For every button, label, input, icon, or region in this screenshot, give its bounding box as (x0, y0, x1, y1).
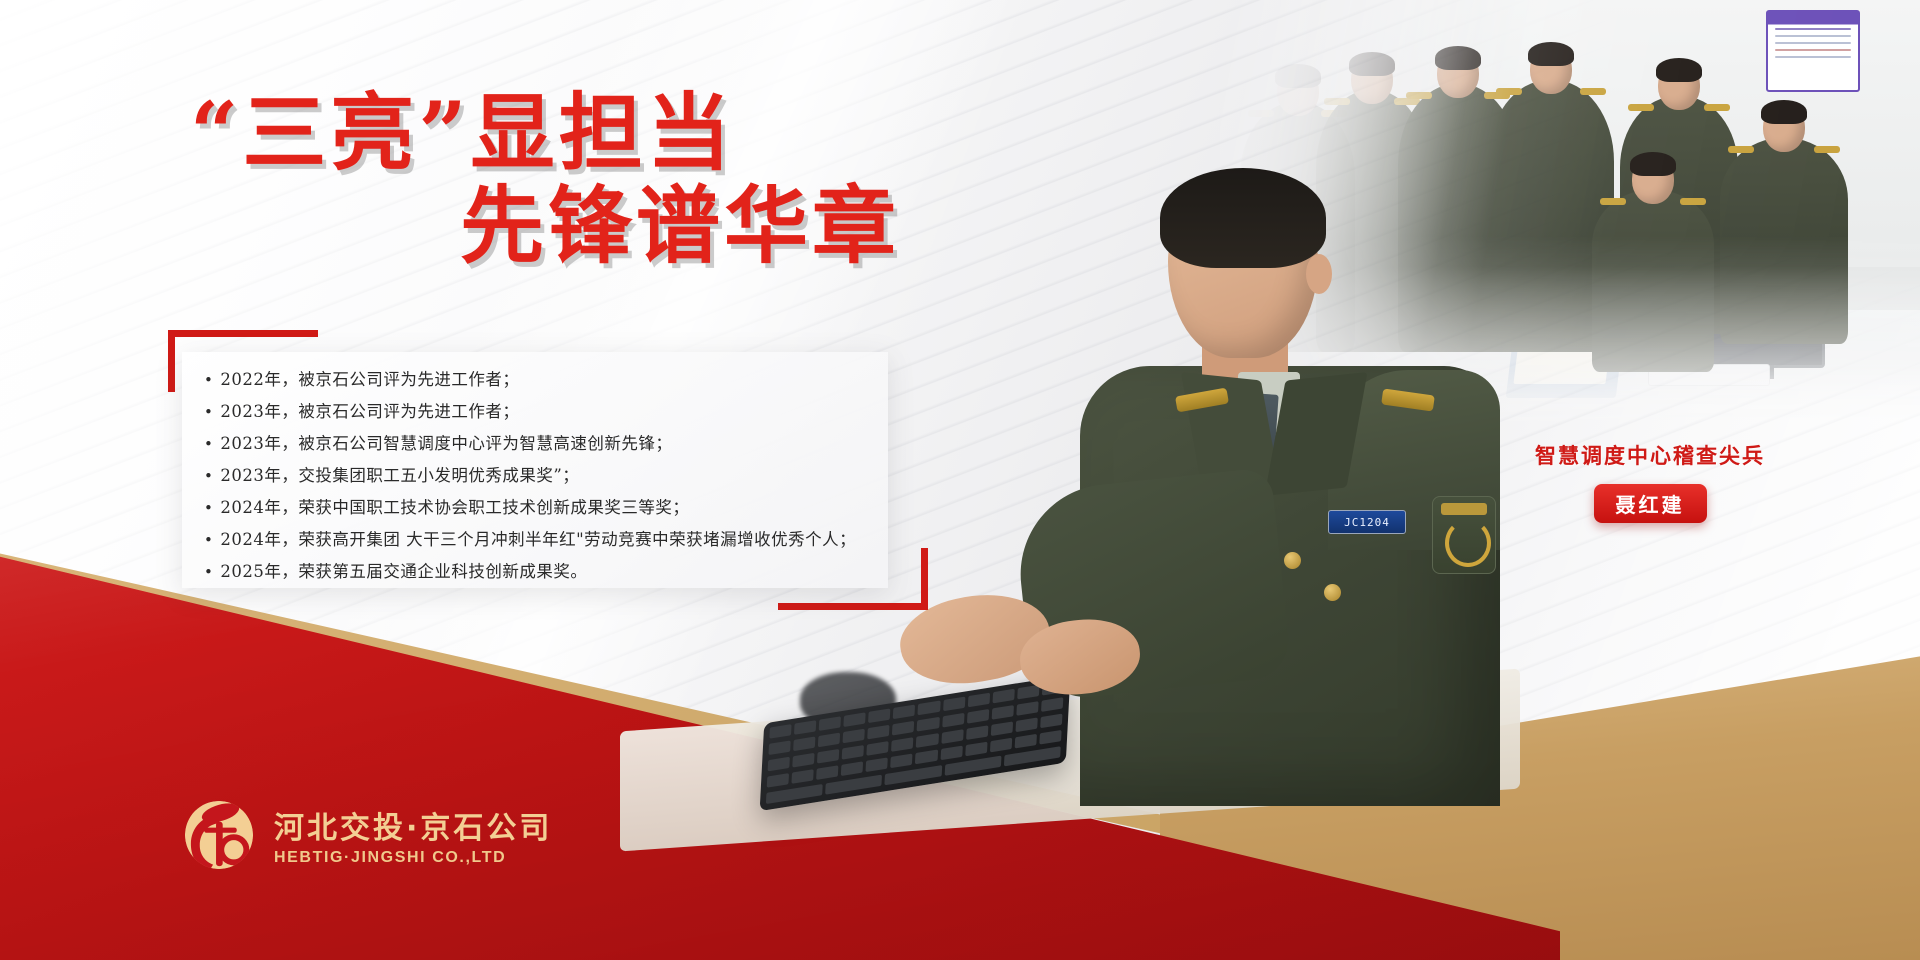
poster-title: “三亮”显担当 先锋谱华章 (190, 88, 1140, 270)
ear (1306, 254, 1332, 294)
honoree-name-badge: 聂红建 (1594, 484, 1707, 523)
badge-number-text: JC1204 (1344, 516, 1390, 529)
corner-bracket-top-left-horizontal (168, 330, 318, 337)
list-item: 2024年，荣获高开集团 大干三个月冲刺半年红"劳动竞赛中荣获堵漏增收优秀个人； (204, 532, 870, 549)
corner-bracket-top-left-vertical (168, 330, 175, 392)
list-item: 2023年，被京石公司智慧调度中心评为智慧高速创新先锋； (204, 436, 870, 453)
uniform-button-icon (1284, 552, 1301, 569)
company-logo: 河北交投·京石公司 HEBTIG·JINGSHI CO.,LTD (182, 798, 552, 872)
company-logo-text: 河北交投·京石公司 HEBTIG·JINGSHI CO.,LTD (274, 803, 552, 867)
shoulder-emblem-icon (1432, 496, 1496, 574)
list-item: 2024年，荣获中国职工技术协会职工技术创新成果奖三等奖； (204, 500, 870, 517)
company-name-en: HEBTIG·JINGSHI CO.,LTD (274, 849, 552, 867)
name-badge: JC1204 (1328, 510, 1406, 534)
uniform-button-icon (1324, 584, 1341, 601)
corner-bracket-bottom-right-horizontal (778, 603, 928, 610)
company-logo-icon (182, 798, 256, 872)
list-item: 2025年，荣获第五届交通企业科技创新成果奖。 (204, 564, 870, 581)
honoree-nametag: 智慧调度中心稽查尖兵 聂红建 (1500, 440, 1800, 523)
achievements-card: 2022年，被京石公司评为先进工作者； 2023年，被京石公司评为先进工作者； … (182, 352, 888, 588)
list-item: 2023年，被京石公司评为先进工作者； (204, 404, 870, 421)
corner-bracket-bottom-right-vertical (921, 548, 928, 610)
achievements-panel: 2022年，被京石公司评为先进工作者； 2023年，被京石公司评为先进工作者； … (168, 330, 928, 610)
title-line-2: 先锋谱华章 (460, 181, 1140, 270)
list-item: 2022年，被京石公司评为先进工作者； (204, 372, 870, 389)
hair (1160, 168, 1326, 268)
company-name-cn: 河北交投·京石公司 (274, 803, 552, 847)
featured-officer-portrait: JC1204 (1080, 180, 1500, 820)
list-item: 2023年，交投集团职工五小发明优秀成果奖”； (204, 468, 870, 485)
poster-stage: JC1204 “三亮”显担当 先锋谱华章 2022年，被京石公司评为先进工作者；… (0, 0, 1920, 960)
achievements-list: 2022年，被京石公司评为先进工作者； 2023年，被京石公司评为先进工作者； … (182, 352, 888, 581)
honoree-role: 智慧调度中心稽查尖兵 (1500, 440, 1800, 470)
title-line-1: “三亮”显担当 (190, 88, 1140, 177)
